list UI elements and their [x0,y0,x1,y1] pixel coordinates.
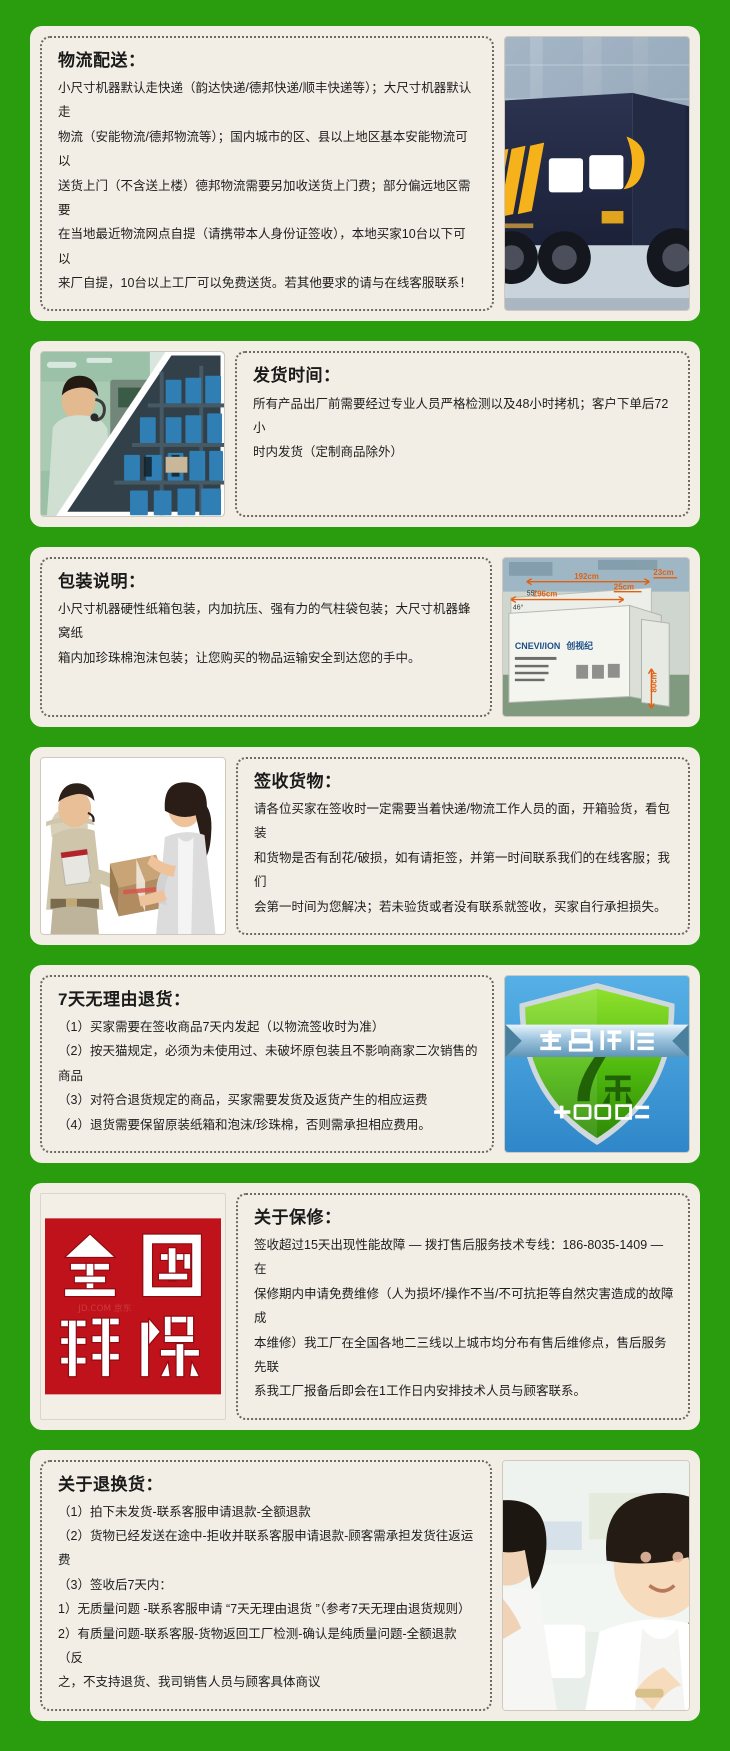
section-body: 请各位买家在签收时一定需要当着快递/物流工作人员的面，开箱验货，看包装 和货物是… [254,797,674,919]
courier-delivery-photo [40,757,226,935]
svg-text:80cm: 80cm [649,672,658,692]
warranty-text-box: 关于保修： 签收超过15天出现性能故障 — 拨打售后服务技术专线：186-803… [236,1193,690,1420]
receiving-text-box: 签收货物： 请各位买家在签收时一定需要当着快递/物流工作人员的面，开箱验货，看包… [236,757,690,935]
svg-text:CNEVI/ION: CNEVI/ION [515,641,560,651]
returns-exchanges-text-box: 关于退换货： （1）拍下未发货-联系客服申请退款-全额退款 （2）货物已经发送在… [40,1460,492,1711]
deppon-truck-photo [504,36,690,311]
section-title: 物流配送： [58,50,478,72]
section-shipping-time: 发货时间： 所有产品出厂前需要经过专业人员严格检测以及48小时拷机；客户下单后7… [30,341,700,526]
seven-day-shield-badge: 7 [504,975,690,1153]
svg-text:192cm: 192cm [574,571,599,580]
section-body: 小尺寸机器硬性纸箱包装，内加抗压、强有力的气柱袋包装；大尺寸机器蜂窝纸 箱内加珍… [58,597,476,670]
svg-text:JD.COM 京东: JD.COM 京东 [77,1302,131,1314]
section-returns-exchanges: 关于退换货： （1）拍下未发货-联系客服申请退款-全额退款 （2）货物已经发送在… [30,1450,700,1721]
customer-service-photo [502,1460,690,1711]
section-title: 包装说明： [58,571,476,593]
section-title: 签收货物： [254,771,674,793]
section-body: 小尺寸机器默认走快递（韵达快递/德邦快递/顺丰快递等）；大尺寸机器默认走 物流（… [58,76,478,295]
section-body: 所有产品出厂前需要经过专业人员严格检测以及48小时拷机；客户下单后72小 时内发… [253,392,674,465]
national-warranty-badge: JD.COM 京东 [40,1193,226,1420]
factory-testing-photo [40,351,225,516]
section-title: 关于保修： [254,1207,674,1229]
svg-text:55°: 55° [527,589,538,597]
svg-text:25cm: 25cm [614,582,634,591]
packaging-text-box: 包装说明： 小尺寸机器硬性纸箱包装，内加抗压、强有力的气柱袋包装；大尺寸机器蜂窝… [40,557,492,717]
section-logistics: 物流配送： 小尺寸机器默认走快递（韵达快递/德邦快递/顺丰快递等）；大尺寸机器默… [30,26,700,321]
section-title: 7天无理由退货： [58,989,478,1011]
svg-text:46°: 46° [513,603,524,611]
section-packaging: CNEVI/ION 创视纪 [30,547,700,727]
shipping-time-text-box: 发货时间： 所有产品出厂前需要经过专业人员严格检测以及48小时拷机；客户下单后7… [235,351,690,516]
section-seven-day-return: 7 [30,965,700,1163]
section-title: 发货时间： [253,365,674,387]
logistics-text-box: 物流配送： 小尺寸机器默认走快递（韵达快递/德邦快递/顺丰快递等）；大尺寸机器默… [40,36,494,311]
packaging-carton-photo: CNEVI/ION 创视纪 [502,557,690,717]
section-warranty: JD.COM 京东 [30,1183,700,1430]
section-body: （1）拍下未发货-联系客服申请退款-全额退款 （2）货物已经发送在途中-拒收并联… [58,1500,476,1695]
section-title: 关于退换货： [58,1474,476,1496]
product-policy-page: 物流配送： 小尺寸机器默认走快递（韵达快递/德邦快递/顺丰快递等）；大尺寸机器默… [0,0,730,1751]
section-body: （1）买家需要在签收商品7天内发起（以物流签收时为准） （2）按天猫规定，必须为… [58,1015,478,1137]
section-body: 签收超过15天出现性能故障 — 拨打售后服务技术专线：186-8035-1409… [254,1233,674,1404]
svg-text:创视纪: 创视纪 [565,640,593,651]
svg-text:23cm: 23cm [653,567,673,576]
section-receiving: 签收货物： 请各位买家在签收时一定需要当着快递/物流工作人员的面，开箱验货，看包… [30,747,700,945]
seven-day-return-text-box: 7天无理由退货： （1）买家需要在签收商品7天内发起（以物流签收时为准） （2）… [40,975,494,1153]
